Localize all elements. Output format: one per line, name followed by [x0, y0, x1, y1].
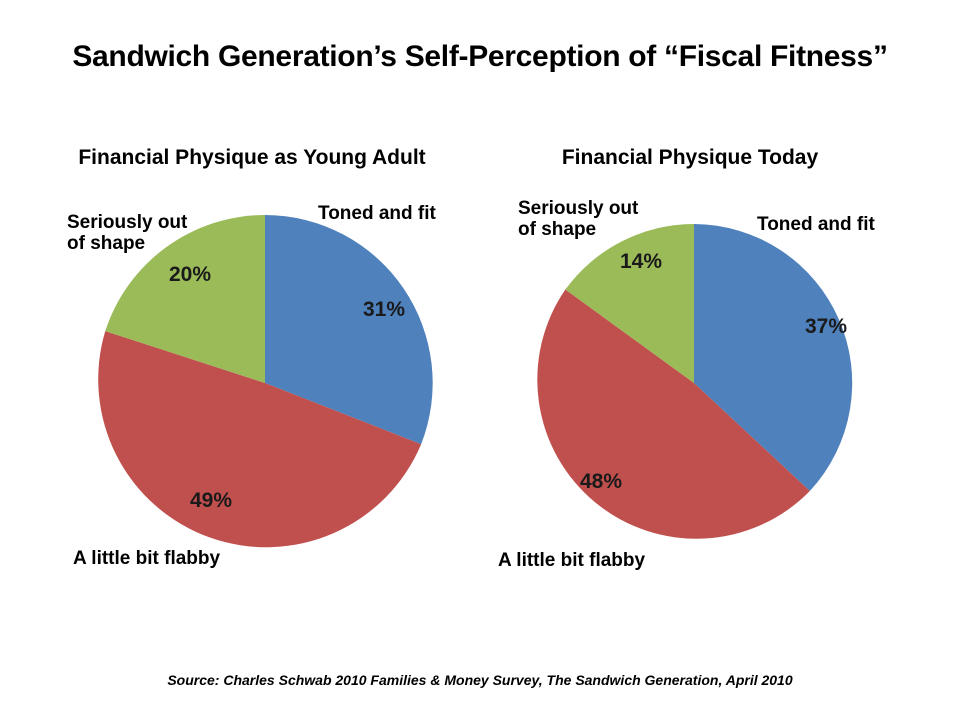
pie-svg-today [533, 222, 855, 544]
chart-title-today: Financial Physique Today [490, 146, 890, 170]
category-label-serious-today: Seriously out of shape [518, 198, 638, 241]
category-label-flabby-young-adult: A little bit flabby [73, 548, 220, 569]
data-label-serious-young-adult: 20% [169, 263, 211, 287]
slide-canvas: Sandwich Generation’s Self-Perception of… [0, 0, 960, 720]
category-label-toned-today: Toned and fit [757, 214, 875, 235]
category-label-toned-young-adult: Toned and fit [318, 203, 436, 224]
chart-panel-young-adult: Financial Physique as Young Adult Toned … [10, 0, 490, 660]
pie-svg-young-adult [95, 213, 435, 553]
source-note: Source: Charles Schwab 2010 Families & M… [0, 672, 960, 688]
data-label-toned-young-adult: 31% [363, 298, 405, 322]
category-label-flabby-today: A little bit flabby [498, 550, 645, 571]
data-label-toned-today: 37% [805, 315, 847, 339]
data-label-flabby-young-adult: 49% [190, 489, 232, 513]
pie-chart-today [533, 222, 855, 544]
data-label-serious-today: 14% [620, 250, 662, 274]
chart-title-young-adult: Financial Physique as Young Adult [52, 146, 452, 170]
pie-chart-young-adult [95, 213, 435, 553]
category-label-serious-young-adult: Seriously out of shape [67, 212, 187, 255]
data-label-flabby-today: 48% [580, 470, 622, 494]
